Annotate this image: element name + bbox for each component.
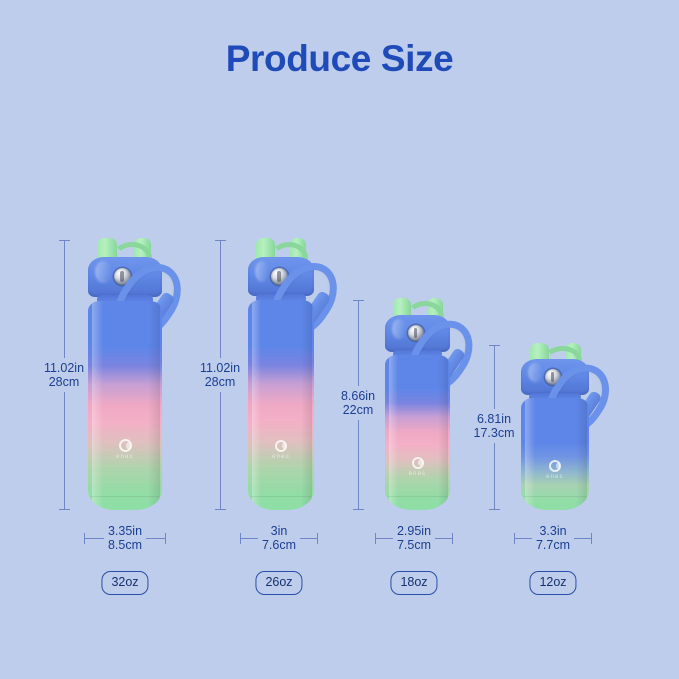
brand-logo: enec — [88, 439, 162, 460]
width-cm-12oz: 7.7cm — [536, 538, 570, 552]
product-bottle-32oz: enec — [88, 235, 162, 510]
body-highlight-left — [252, 300, 261, 510]
width-cm-26oz: 7.6cm — [262, 538, 296, 552]
body-shadow-right — [301, 300, 312, 510]
dimension-cap-right — [165, 533, 166, 544]
dimension-cap-top — [59, 240, 70, 241]
dimension-cap-top — [215, 240, 226, 241]
cap-highlight — [95, 261, 111, 283]
circle-c-logo-icon — [275, 440, 287, 452]
dimension-cap-top — [353, 300, 364, 301]
body-shadow-right — [438, 355, 448, 510]
brand-logo: enec — [385, 457, 450, 477]
body-base-seam — [251, 496, 312, 497]
dimension-cap-bottom — [353, 509, 364, 510]
width-inches-12oz: 3.3in — [536, 524, 570, 538]
height-label-26oz: 11.02in 28cm — [199, 358, 241, 392]
width-cm-32oz: 8.5cm — [108, 538, 142, 552]
capacity-badge-12oz[interactable]: 12oz — [529, 571, 576, 595]
height-inches-18oz: 8.66in — [341, 389, 375, 403]
brand-logo-word: enec — [385, 471, 450, 477]
body-base-seam — [91, 496, 159, 497]
width-label-18oz: 2.95in 7.5cm — [393, 524, 435, 552]
width-label-26oz: 3in 7.6cm — [258, 524, 300, 552]
dimension-cap-top — [489, 345, 500, 346]
dimension-cap-left — [240, 533, 241, 544]
height-cm-26oz: 28cm — [200, 375, 240, 389]
circle-c-logo-icon — [119, 439, 132, 452]
height-label-18oz: 8.66in 22cm — [340, 386, 376, 420]
product-bottle-12oz: enec — [521, 340, 589, 510]
circle-c-logo-icon — [549, 460, 561, 472]
capacity-badge-18oz[interactable]: 18oz — [390, 571, 437, 595]
height-inches-12oz: 6.81in — [474, 412, 515, 426]
dimension-cap-bottom — [215, 509, 226, 510]
height-inches-32oz: 11.02in — [44, 361, 84, 375]
body-base-seam — [524, 496, 587, 497]
product-bottle-18oz: enec — [385, 295, 450, 510]
dimension-cap-bottom — [59, 509, 70, 510]
dimension-cap-right — [452, 533, 453, 544]
brand-logo: enec — [248, 440, 314, 460]
height-cm-32oz: 28cm — [44, 375, 84, 389]
dimension-cap-right — [591, 533, 592, 544]
dimension-cap-left — [514, 533, 515, 544]
height-cm-12oz: 17.3cm — [474, 426, 515, 440]
size-comparison-diagram: enec 11.02in 28cm 3.35in 8.5cm 32oz — [0, 0, 679, 679]
brand-logo-word: enec — [88, 454, 162, 460]
height-label-32oz: 11.02in 28cm — [43, 358, 85, 392]
brand-logo: enec — [521, 460, 589, 480]
dimension-cap-left — [84, 533, 85, 544]
width-inches-18oz: 2.95in — [397, 524, 431, 538]
bottle-body: enec — [248, 300, 314, 510]
cap-highlight — [392, 319, 406, 339]
body-highlight-left — [389, 355, 398, 510]
capacity-badge-26oz[interactable]: 26oz — [255, 571, 302, 595]
body-highlight-left — [525, 398, 535, 510]
capacity-badge-32oz[interactable]: 32oz — [101, 571, 148, 595]
height-inches-26oz: 11.02in — [200, 361, 240, 375]
body-base-seam — [388, 496, 448, 497]
product-bottle-26oz: enec — [248, 235, 314, 510]
width-label-12oz: 3.3in 7.7cm — [532, 524, 574, 552]
brand-logo-word: enec — [248, 454, 314, 460]
circle-c-logo-icon — [412, 457, 424, 469]
width-label-32oz: 3.35in 8.5cm — [104, 524, 146, 552]
bottle-body: enec — [385, 355, 450, 510]
bottle-body: enec — [521, 398, 589, 510]
dimension-cap-bottom — [489, 509, 500, 510]
width-inches-26oz: 3in — [262, 524, 296, 538]
width-inches-32oz: 3.35in — [108, 524, 142, 538]
body-highlight-left — [92, 301, 102, 510]
height-cm-18oz: 22cm — [341, 403, 375, 417]
brand-logo-word: enec — [521, 474, 589, 480]
cap-highlight — [255, 261, 270, 282]
height-label-12oz: 6.81in 17.3cm — [473, 409, 516, 443]
body-shadow-right — [148, 301, 160, 510]
width-cm-18oz: 7.5cm — [397, 538, 431, 552]
body-shadow-right — [576, 398, 587, 510]
dimension-cap-left — [375, 533, 376, 544]
dimension-cap-right — [317, 533, 318, 544]
bottle-body: enec — [88, 301, 162, 510]
cap-highlight — [528, 363, 543, 383]
